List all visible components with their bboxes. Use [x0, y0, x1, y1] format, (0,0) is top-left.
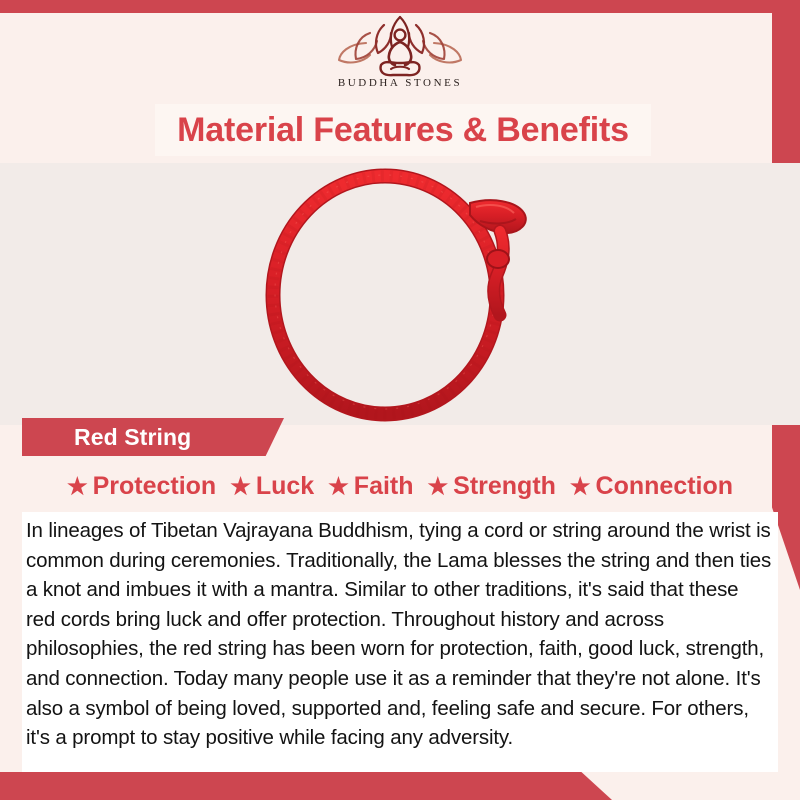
- benefit-tag-strength: ★ Strength: [428, 472, 556, 501]
- lotus-meditation-icon: [336, 13, 464, 79]
- benefit-tag-label: Strength: [453, 472, 556, 501]
- brand-wordmark: BUDDHA STONES: [338, 77, 462, 89]
- benefit-tag-label: Faith: [354, 472, 414, 501]
- benefit-tag-protection: ★ Protection: [67, 472, 216, 501]
- description-block: In lineages of Tibetan Vajrayana Buddhis…: [22, 512, 778, 772]
- star-icon: ★: [328, 475, 349, 498]
- infographic-page: BUDDHA STONES Material Features & Benefi…: [0, 0, 800, 800]
- red-string-bracelet-image: [0, 163, 800, 425]
- title-banner: Material Features & Benefits: [155, 104, 651, 156]
- benefit-tag-label: Luck: [256, 472, 314, 501]
- star-icon: ★: [67, 475, 88, 498]
- page-title: Material Features & Benefits: [177, 111, 629, 150]
- benefit-tag-label: Protection: [93, 472, 217, 501]
- star-icon: ★: [230, 475, 251, 498]
- benefit-tag-faith: ★ Faith: [328, 472, 413, 501]
- benefit-tag-luck: ★ Luck: [230, 472, 314, 501]
- brand-header: BUDDHA STONES: [0, 13, 800, 105]
- decor-bottom-bar: [0, 772, 612, 800]
- benefit-tag-connection: ★ Connection: [570, 472, 733, 501]
- decor-top-bar: [0, 0, 800, 13]
- product-photo: [0, 163, 800, 425]
- description-text: In lineages of Tibetan Vajrayana Buddhis…: [22, 516, 778, 753]
- product-name-label: Red String: [74, 424, 191, 451]
- benefit-tag-label: Connection: [596, 472, 734, 501]
- star-icon: ★: [570, 475, 591, 498]
- product-name-banner: Red String: [22, 418, 284, 456]
- star-icon: ★: [428, 475, 449, 498]
- benefit-tags-row: ★ Protection ★ Luck ★ Faith ★ Strength ★…: [0, 464, 800, 508]
